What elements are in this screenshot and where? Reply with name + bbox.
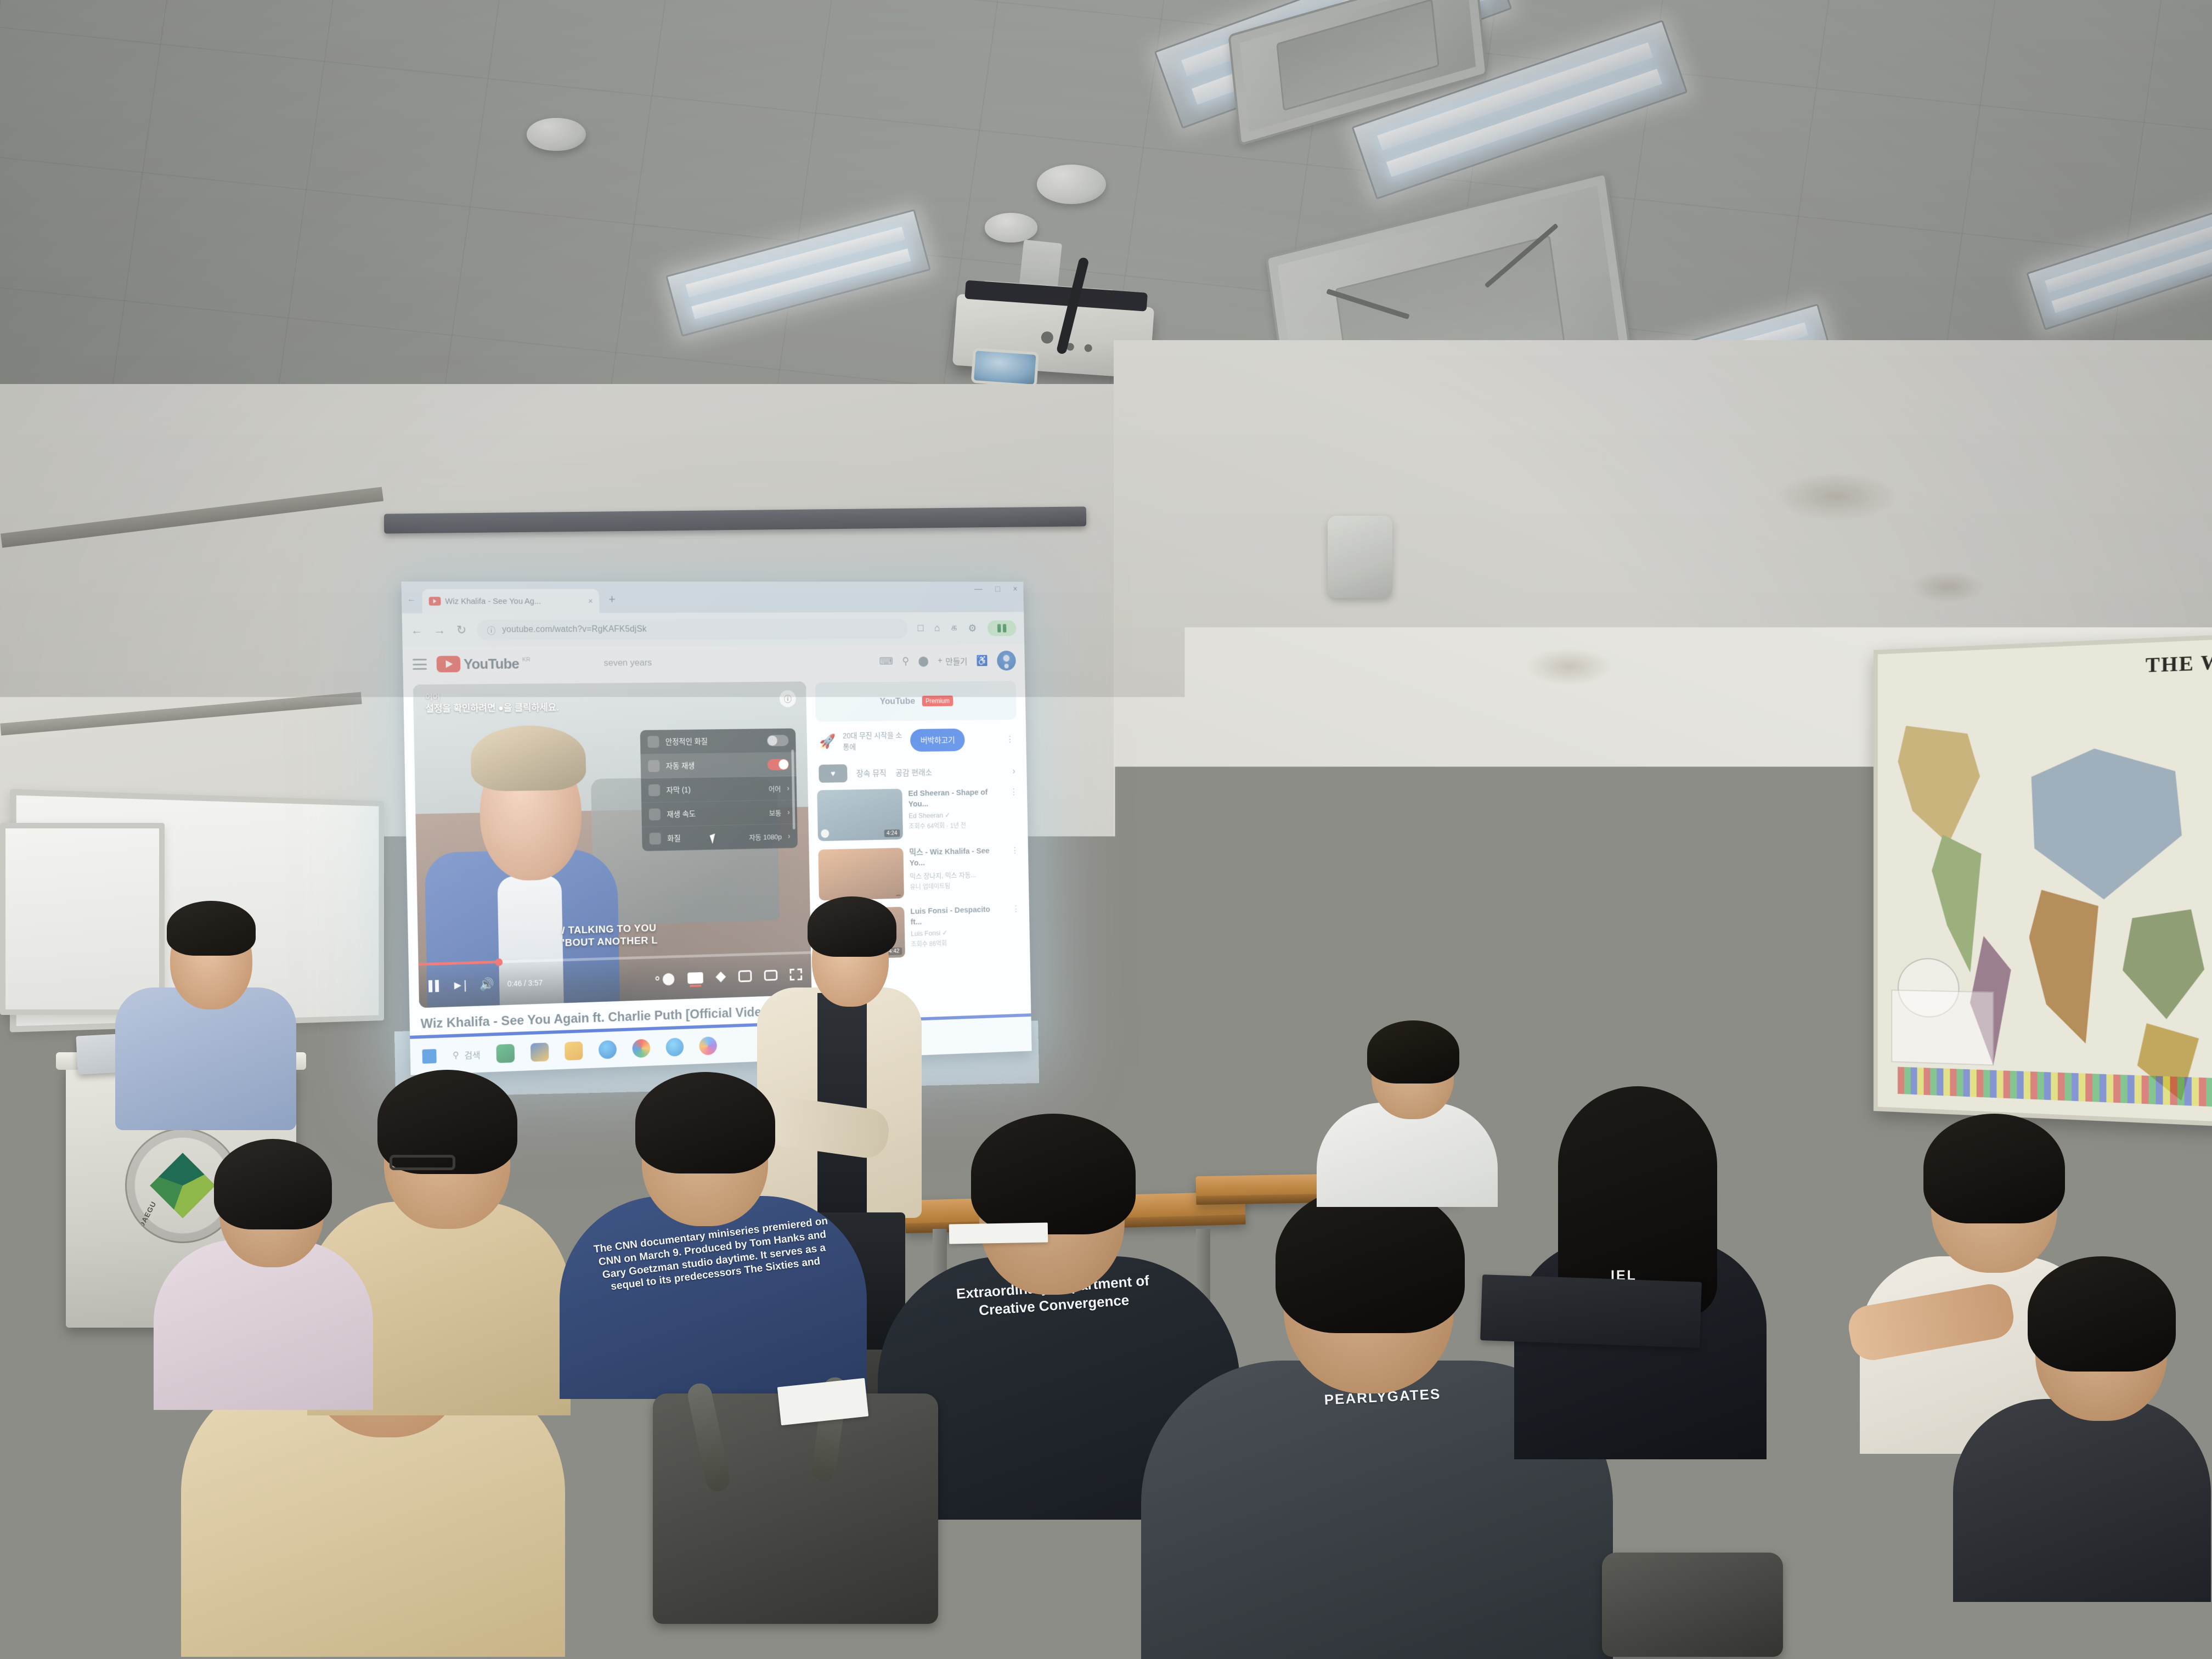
address-bar-value: youtube.com/watch?v=RgKAFK5djSk	[502, 625, 647, 635]
recommendation-more-icon[interactable]: ⋮	[1011, 845, 1019, 896]
projector-lens	[971, 348, 1039, 387]
pause-button[interactable]	[428, 980, 439, 992]
recommendation-stats: 조회수 64억회 · 1년 전	[909, 820, 1001, 831]
wall-stain	[1525, 647, 1613, 686]
recommendation-title: 믹스 - Wiz Khalifa - See Yo...	[909, 845, 1002, 868]
profile-pill[interactable]	[988, 620, 1017, 636]
instructor-at-podium	[99, 889, 318, 1125]
plus-icon: +	[938, 656, 943, 665]
translate-icon[interactable]: க	[951, 622, 957, 635]
bell-icon[interactable]: ♿	[976, 654, 988, 667]
glasses-icon	[390, 1155, 455, 1170]
stable-quality-toggle[interactable]	[767, 735, 789, 746]
promo-cta-button[interactable]: 버박하고기	[910, 729, 965, 752]
youtube-locale-badge: KR	[522, 656, 531, 663]
explorer-icon[interactable]	[496, 1044, 515, 1063]
student-lavender	[154, 1147, 384, 1410]
recommendation-meta: Ed Sheeran - Shape of You... Ed Sheeran …	[908, 787, 1002, 839]
hair	[1276, 1185, 1465, 1333]
onedrive-icon[interactable]	[666, 1037, 684, 1056]
folder-icon[interactable]	[565, 1041, 583, 1060]
overlay-line-2: 설정을 확인하려면 ●을 클릭하세요.	[425, 702, 559, 716]
chip-2[interactable]: 공감 편래소	[895, 766, 932, 778]
settings-row-autoplay[interactable]: 자동 재생	[640, 752, 796, 778]
world-map: THE W	[1874, 634, 2212, 1127]
recommendation-item[interactable]: 4:24 Ed Sheeran - Shape of You... Ed She…	[817, 787, 1018, 841]
projector-port	[1041, 331, 1053, 344]
rocket-icon: 🚀	[819, 733, 836, 749]
stable-quality-icon	[647, 736, 659, 748]
volume-button[interactable]: 🔊	[479, 977, 494, 992]
promo-text: 20대 무진 시작을 소통에	[843, 730, 904, 752]
autoplay-toggle-button[interactable]: ⚬⬤	[652, 972, 675, 986]
hair	[1923, 1114, 2065, 1223]
next-video-button[interactable]: ►|	[452, 978, 467, 993]
browser-nav-bar: ← → ↻ ⓘ youtube.com/watch?v=RgKAFK5djSk …	[402, 612, 1025, 647]
ceiling-speaker	[1037, 165, 1106, 204]
chevron-right-icon[interactable]: ›	[1012, 765, 1015, 776]
hair	[2028, 1256, 2176, 1372]
guide-menu-icon[interactable]	[413, 659, 427, 670]
search-icon: ⚲	[453, 1049, 459, 1060]
settings-row-quality[interactable]: 화질 자동 1080p ›	[642, 824, 798, 851]
laptop	[1480, 1274, 1702, 1348]
search-icon[interactable]: ⚲	[902, 655, 909, 667]
classroom-photo-scene: ← Wiz Khalifa - See You Ag... × + — □ × …	[0, 0, 2212, 1659]
smoke-detector	[985, 213, 1037, 242]
chip-1[interactable]: 장속 뮤직	[856, 767, 887, 778]
mic-icon[interactable]: ⬤	[918, 655, 929, 667]
paper-sheet	[949, 1222, 1048, 1244]
youtube-logo[interactable]: YouTube KR	[436, 655, 531, 673]
sidebar-promo[interactable]: 🚀 20대 무진 시작을 소통에 버박하고기 ⋮	[816, 720, 1017, 762]
map-legend	[1891, 989, 1994, 1065]
cc-info-badge[interactable]: ⓘ	[780, 690, 796, 707]
wall-stain	[1772, 472, 1898, 521]
back-icon[interactable]: ←	[411, 623, 423, 637]
maximize-button[interactable]: □	[995, 585, 1000, 594]
settings-label: 안정적인 화질	[665, 735, 761, 747]
backpack	[1602, 1553, 1783, 1657]
student-long-hair: IEL	[1514, 1075, 1778, 1459]
hair	[971, 1114, 1136, 1234]
youtube-favicon	[429, 597, 441, 606]
student-far-right-front	[1953, 1262, 2212, 1602]
browser-toolbar-actions: □ ⌂ க ⚙	[917, 620, 1016, 636]
ceiling-speaker	[527, 118, 586, 151]
time-display: 0:46 / 3:57	[507, 978, 543, 988]
premium-brand: YouTube	[879, 696, 915, 707]
map-title: THE W	[2146, 650, 2212, 678]
student-blue-tee: The CNN documentary miniseries premiered…	[560, 1070, 878, 1399]
video-thumbnail[interactable]: 4:24	[817, 789, 903, 841]
browser-tab-title: Wiz Khalifa - See You Ag...	[445, 596, 541, 606]
torso	[1953, 1399, 2211, 1602]
backpack-strap	[686, 1381, 732, 1494]
overlay-line-1: 어어	[425, 691, 558, 703]
subtitles-icon	[648, 785, 660, 797]
close-icon[interactable]: ×	[588, 596, 593, 606]
projector-port	[1084, 344, 1092, 352]
quality-icon	[650, 833, 661, 845]
video-duration: 4:24	[884, 830, 900, 837]
cc-icon[interactable]	[687, 972, 703, 983]
edge-icon[interactable]	[599, 1040, 617, 1059]
browser-tab[interactable]: Wiz Khalifa - See You Ag... ×	[422, 589, 599, 613]
chevron-right-icon: ›	[788, 832, 791, 840]
forward-icon[interactable]: →	[433, 623, 445, 637]
recommendation-channel: 믹스 장나지, 믹스 자동...	[910, 868, 1002, 881]
windows-start-icon[interactable]	[422, 1049, 437, 1064]
backpack	[653, 1393, 938, 1624]
taskbar-search[interactable]: ⚲ 검색	[453, 1048, 481, 1062]
speed-icon	[649, 809, 661, 821]
hair	[167, 901, 256, 956]
settings-value: 자동 1080p	[749, 831, 782, 842]
settings-label: 자동 재생	[666, 759, 761, 771]
settings-label: 자막 (1)	[666, 783, 763, 795]
settings-row-speed[interactable]: 재생 속도 보통 ›	[641, 800, 797, 827]
home-icon[interactable]: ⌂	[934, 623, 940, 634]
reload-icon[interactable]: ↻	[456, 623, 467, 637]
hair	[635, 1072, 775, 1173]
address-bar[interactable]: ⓘ youtube.com/watch?v=RgKAFK5djSk	[477, 618, 908, 640]
avatar[interactable]	[997, 651, 1016, 670]
youtube-logo-text: YouTube	[464, 655, 520, 672]
create-button[interactable]: + 만들기	[938, 654, 967, 667]
keyboard-icon[interactable]: ⌨	[879, 655, 893, 667]
autoplay-icon	[648, 760, 659, 772]
close-window-button[interactable]: ×	[1013, 585, 1018, 594]
create-label: 만들기	[945, 654, 968, 667]
new-tab-button[interactable]: +	[608, 592, 616, 607]
sidebar-chip-row: ♥ 장속 뮤직 공감 편래소 ›	[816, 759, 1017, 791]
progress-handle[interactable]	[495, 958, 503, 966]
video-person-hair	[470, 725, 586, 792]
hair	[808, 896, 896, 957]
video-instruction-overlay: 어어 설정을 확인하려면 ●을 클릭하세요.	[425, 691, 559, 716]
search-placeholder: 검색	[464, 1048, 480, 1062]
site-info-icon[interactable]: ⓘ	[487, 623, 495, 636]
settings-label: 재생 속도	[667, 807, 763, 820]
chevron-down-icon[interactable]: ←	[407, 595, 416, 605]
heart-icon[interactable]: ♥	[819, 764, 848, 783]
minimize-button[interactable]: —	[974, 585, 983, 594]
settings-row-subtitles[interactable]: 자막 (1) 어어 ›	[641, 776, 797, 803]
settings-gear-icon[interactable]	[715, 972, 726, 983]
recommendation-more-icon[interactable]: ⋮	[1009, 787, 1018, 837]
settings-label: 화질	[667, 832, 743, 844]
student-white-shirt	[1317, 1020, 1503, 1207]
chevron-right-icon: ›	[787, 808, 790, 816]
extensions-icon[interactable]: ⚙	[968, 622, 977, 634]
ac-inner-panel	[1276, 0, 1439, 111]
wall-stain	[1909, 571, 1986, 603]
search-input[interactable]: seven years	[603, 657, 652, 668]
autoplay-toggle[interactable]	[768, 759, 789, 770]
chevron-right-icon: ›	[787, 784, 789, 793]
window-controls: — □ ×	[974, 585, 1018, 594]
recommendation-more-icon[interactable]: ⋮	[1012, 904, 1020, 954]
recommendation-title: Ed Sheeran - Shape of You...	[908, 787, 1001, 809]
browser-tab-strip: ← Wiz Khalifa - See You Ag... × + — □ ×	[401, 582, 1024, 613]
premium-promo-card[interactable]: YouTube Premium	[815, 681, 1017, 721]
thumbnail-badge	[821, 830, 829, 838]
recommendation-channel: Ed Sheeran ✓	[909, 810, 1001, 821]
hair	[1367, 1020, 1459, 1084]
store-icon[interactable]	[531, 1042, 549, 1062]
youtube-play-icon	[436, 656, 460, 672]
settings-row-stable-quality[interactable]: 안정적인 화질	[640, 729, 796, 754]
wall-speaker	[1328, 516, 1392, 598]
settings-value: 어어	[769, 783, 781, 793]
video-caption: / TALKING TO YOU 'BOUT ANOTHER L	[562, 922, 658, 950]
player-settings-menu[interactable]: 안정적인 화질 자동 재생 자막 (1)	[640, 729, 798, 851]
hair	[214, 1139, 332, 1229]
settings-value: 보통	[769, 807, 782, 817]
youtube-header: YouTube KR seven years ⌨ ⚲ ⬤ + 만들기 ♿	[403, 644, 1025, 681]
premium-tag: Premium	[922, 696, 953, 707]
chrome-icon[interactable]	[632, 1039, 650, 1058]
promo-more-icon[interactable]: ⋮	[1006, 734, 1014, 744]
photos-icon[interactable]	[699, 1036, 717, 1055]
split-screen-icon[interactable]: □	[917, 623, 923, 634]
